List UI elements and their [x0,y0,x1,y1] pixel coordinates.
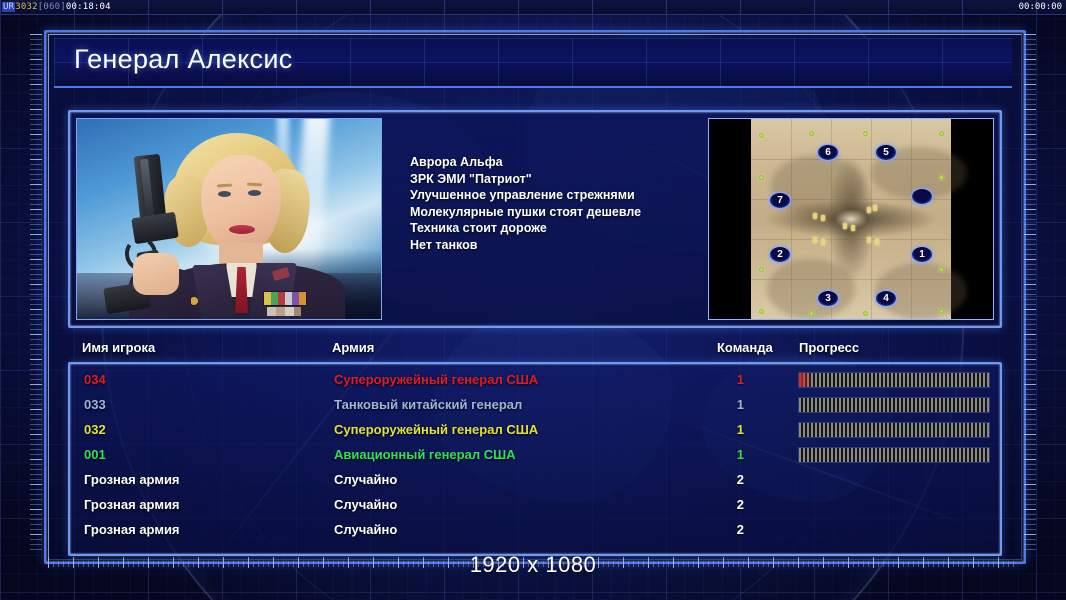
progress-bar [798,372,990,388]
cell-player-name: 001 [84,443,106,467]
general-info-panel: Аврора Альфа ЗРК ЭМИ "Патриот" Улучшенно… [68,110,1002,328]
map-supply-point [809,131,814,136]
fps-counter: UR3032[060]00:18:04 [2,0,111,14]
table-row[interactable]: Грозная армияСлучайно2 [70,468,996,492]
session-timer: 00:18:04 [66,2,111,12]
cell-team[interactable]: 2 [724,518,744,542]
page-title: Генерал Алексис [74,44,293,75]
map-oil-derrick [867,237,871,243]
title-bar: Генерал Алексис [54,38,1012,88]
column-header-progress: Прогресс [799,340,859,355]
game-lobby-screen: UR3032[060]00:18:04 00:00:00 Генерал Але… [0,0,1066,600]
progress-bar-fill [799,423,989,437]
map-start-position[interactable]: 4 [875,290,897,307]
cell-team[interactable]: 1 [724,443,744,467]
description-line: ЗРК ЭМИ "Патриот" [410,171,740,188]
map-oil-derrick [851,225,855,231]
map-grid-line [871,119,872,319]
table-row[interactable]: 001Авиационный генерал США1 [70,443,996,467]
progress-bar-fill [799,398,989,412]
ruler-left [30,34,42,554]
map-supply-point [939,309,944,314]
cell-army[interactable]: Случайно [334,468,397,492]
cell-player-name: 033 [84,393,106,417]
map-start-position[interactable]: 3 [817,290,839,307]
resolution-label: 1920 x 1080 [0,552,1066,578]
cell-army[interactable]: Танковый китайский генерал [334,393,522,417]
map-supply-point [863,131,868,136]
table-row[interactable]: Грозная армияСлучайно2 [70,493,996,517]
progress-bar [798,422,990,438]
table-row[interactable]: 032Супероружейный генерал США1 [70,418,996,442]
map-oil-derrick [821,239,825,245]
cell-player-name: Грозная армия [84,468,180,492]
map-supply-point [759,133,764,138]
map-supply-point [939,267,944,272]
portrait-button [190,297,198,305]
progress-bar [798,397,990,413]
cell-team[interactable]: 1 [724,418,744,442]
description-line: Техника стоит дороже [410,220,740,237]
cell-army[interactable]: Супероружейный генерал США [334,418,538,442]
player-table: 034Супероружейный генерал США1033Танковы… [68,362,1002,556]
progress-bar [798,447,990,463]
map-start-position[interactable]: 5 [875,144,897,161]
general-portrait [76,118,382,320]
progress-bar-fill [799,448,989,462]
cell-player-name: 032 [84,418,106,442]
map-start-position[interactable] [911,188,933,205]
map-supply-point [759,175,764,180]
map-supply-point [939,131,944,136]
table-row[interactable]: 034Супероружейный генерал США1 [70,368,996,392]
table-row[interactable]: 033Танковый китайский генерал1 [70,393,996,417]
portrait-eye-right [248,190,261,196]
map-oil-derrick [875,239,879,245]
description-line: Аврора Альфа [410,154,740,171]
map-start-position[interactable]: 2 [769,246,791,263]
hud-top-bar: UR3032[060]00:18:04 00:00:00 [0,0,1066,15]
map-oil-derrick [821,215,825,221]
map-preview[interactable]: 6572134 [708,118,994,320]
description-line: Нет танков [410,237,740,254]
fps-bracket: [060] [38,2,66,12]
map-grid-line [751,239,951,240]
cell-team[interactable]: 2 [724,493,744,517]
fps-value-a: 30 [15,2,26,12]
hud-clock: 00:00:00 [1019,0,1062,14]
map-oil-derrick [843,223,847,229]
cell-player-name: 034 [84,368,106,392]
map-start-position[interactable]: 6 [817,144,839,161]
cell-army[interactable]: Случайно [334,518,397,542]
column-header-army: Армия [332,340,374,355]
fps-prefix: UR [2,2,15,12]
cell-player-name: Грозная армия [84,493,180,517]
map-supply-point [759,267,764,272]
fps-value-b: 32 [27,2,38,12]
table-row[interactable]: Грозная армияСлучайно2 [70,518,996,542]
cell-team[interactable]: 2 [724,468,744,492]
cell-army[interactable]: Авиационный генерал США [334,443,516,467]
description-line: Молекулярные пушки стоят дешевле [410,204,740,221]
description-line: Улучшенное управление стрежнями [410,187,740,204]
hud-cell-dividers [0,0,1066,14]
portrait-medal-badge [267,307,301,316]
map-oil-derrick [873,205,877,211]
map-oil-derrick [813,237,817,243]
cell-team[interactable]: 1 [724,393,744,417]
map-image: 6572134 [751,119,951,319]
progress-bar-fill [799,373,989,387]
map-supply-point [939,175,944,180]
cell-army[interactable]: Случайно [334,493,397,517]
column-header-team: Команда [717,340,773,355]
map-start-position[interactable]: 7 [769,192,791,209]
cell-team[interactable]: 1 [724,368,744,392]
map-start-position[interactable]: 1 [911,246,933,263]
cell-army[interactable]: Супероружейный генерал США [334,368,538,392]
ruler-right [1024,34,1036,554]
general-description-list: Аврора Альфа ЗРК ЭМИ "Патриот" Улучшенно… [410,154,740,254]
map-terrain-blob [767,259,855,319]
map-oil-derrick [867,207,871,213]
portrait-lips [229,225,255,234]
cell-player-name: Грозная армия [84,518,180,542]
portrait-medal-ribbons [263,291,307,306]
portrait-hand [133,253,179,295]
portrait-eye-left [218,191,231,197]
player-table-header: Имя игрока Армия Команда Прогресс [82,340,992,360]
map-oil-derrick [813,213,817,219]
map-supply-point [759,309,764,314]
progress-bar-tint [799,373,812,387]
column-header-player: Имя игрока [82,340,155,355]
map-supply-point [809,311,814,316]
map-supply-point [863,311,868,316]
